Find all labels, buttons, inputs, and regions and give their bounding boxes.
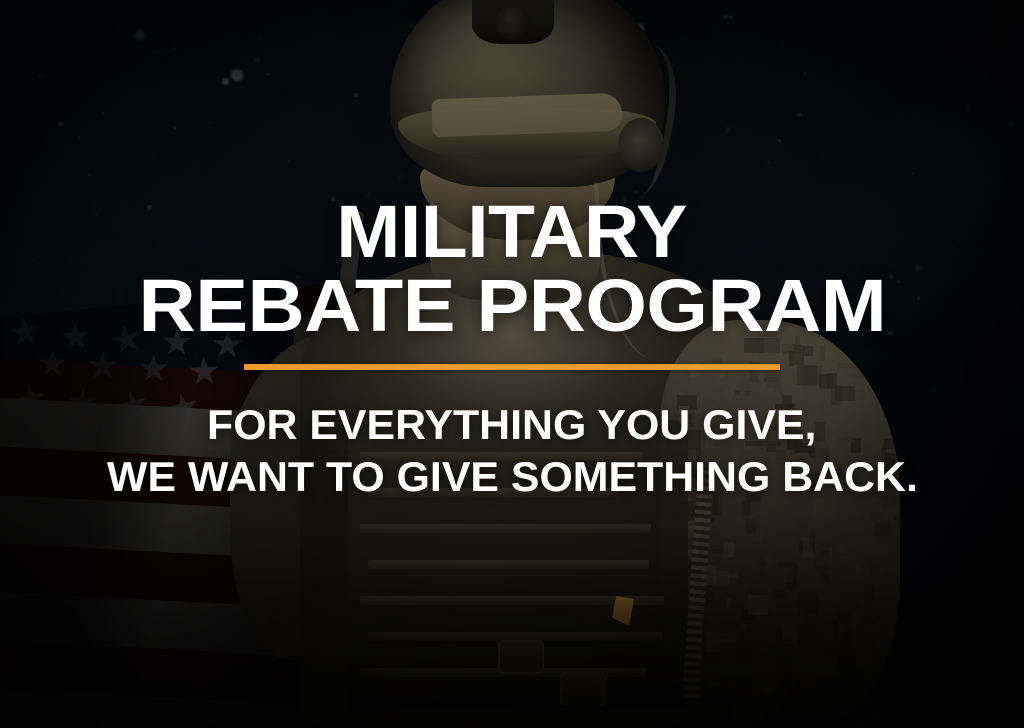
military-rebate-banner: MILITARY REBATE PROGRAM FOR EVERYTHING Y… (0, 0, 1024, 728)
headline-line-2: REBATE PROGRAM (138, 272, 886, 340)
banner-content: MILITARY REBATE PROGRAM FOR EVERYTHING Y… (0, 0, 1024, 728)
subheadline-line-1: FOR EVERYTHING YOU GIVE, (207, 404, 816, 446)
accent-divider (244, 364, 780, 370)
subheadline-line-2: WE WANT TO GIVE SOMETHING BACK. (107, 456, 918, 498)
headline-line-1: MILITARY (337, 198, 688, 266)
